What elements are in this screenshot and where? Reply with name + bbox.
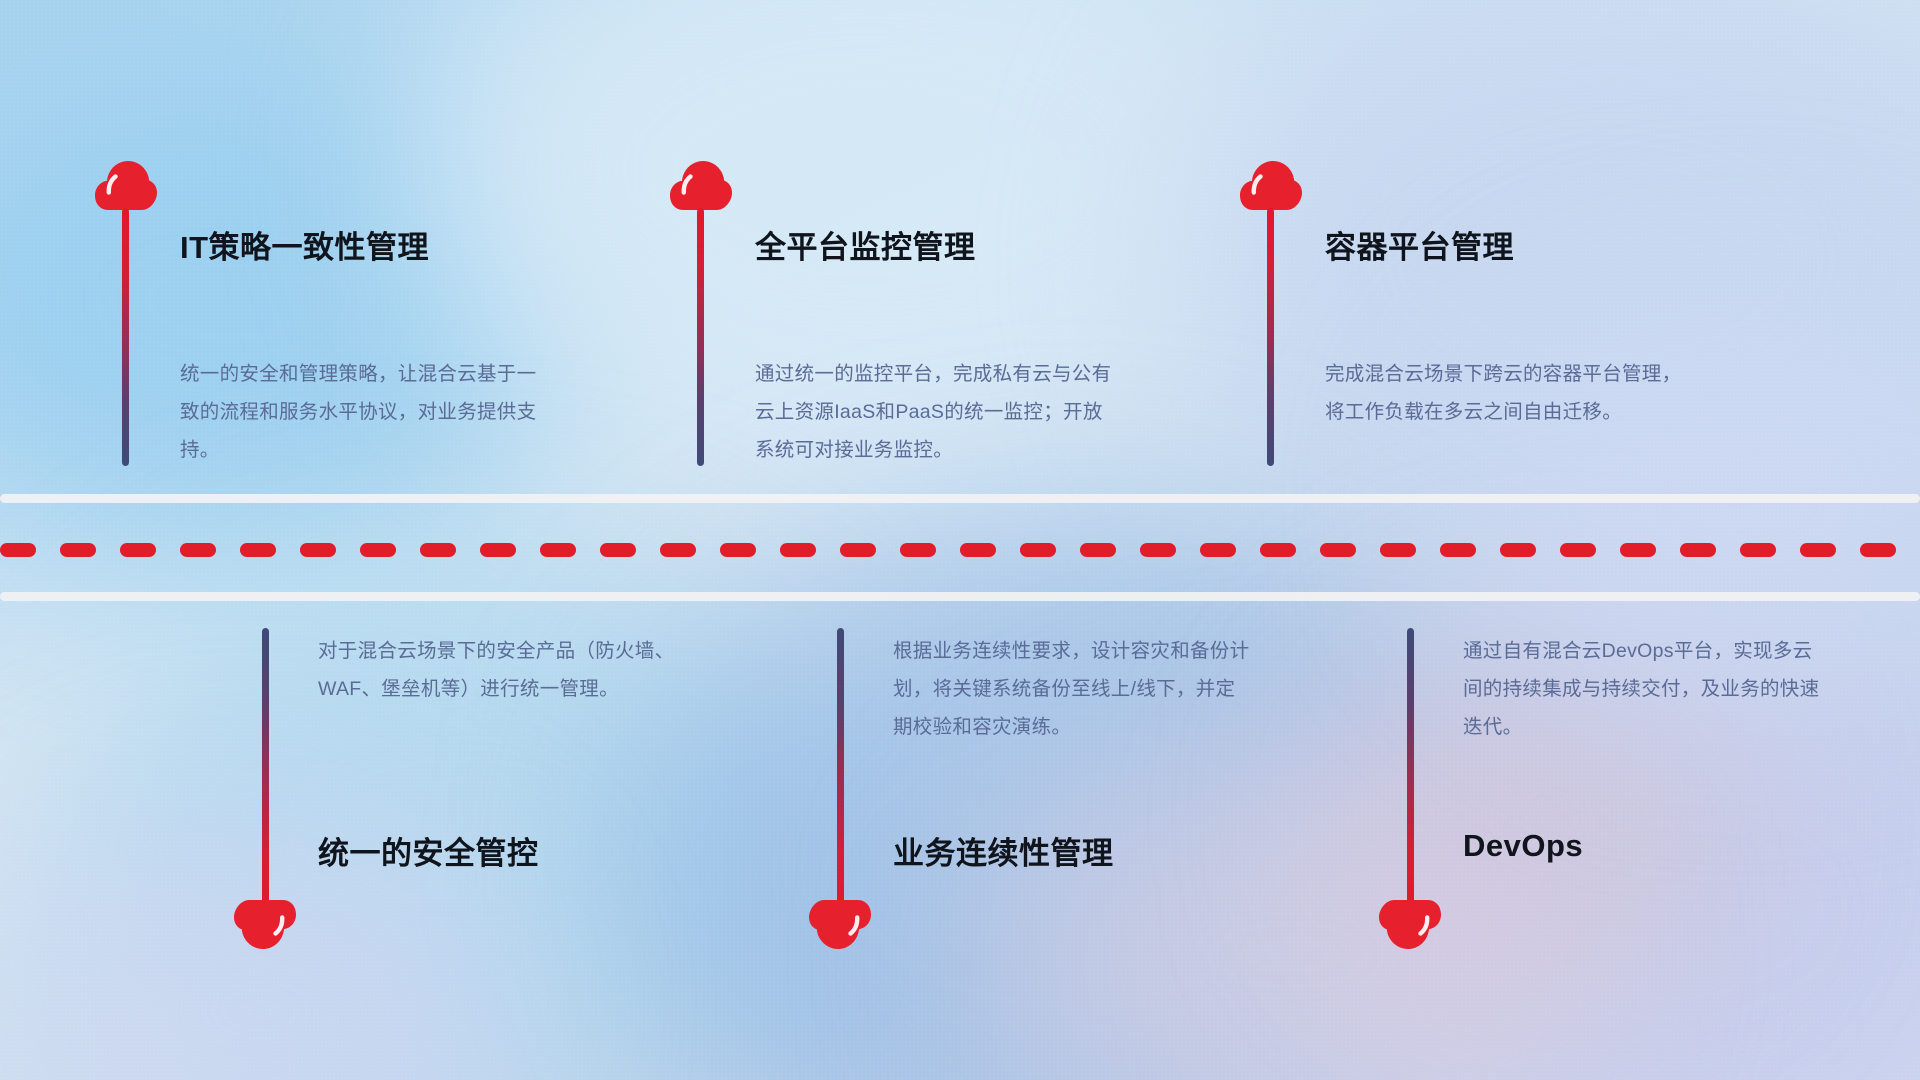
divider-dash-segment xyxy=(1380,543,1416,557)
divider-dash-segment xyxy=(1320,543,1356,557)
cloud-icon xyxy=(234,898,296,950)
divider-dash-segment xyxy=(1440,543,1476,557)
divider-dash-segment xyxy=(1680,543,1716,557)
divider-dash-segment xyxy=(1800,543,1836,557)
divider-dash-segment xyxy=(900,543,936,557)
card-title: 业务连续性管理 xyxy=(893,828,1114,873)
card-description: 完成混合云场景下跨云的容器平台管理，将工作负载在多云之间自由迁移。 xyxy=(1325,355,1685,431)
divider-dash-segment xyxy=(120,543,156,557)
divider-dash-segment xyxy=(540,543,576,557)
infographic-canvas: IT策略一致性管理 统一的安全和管理策略，让混合云基于一致的流程和服务水平协议，… xyxy=(0,0,1920,1080)
divider-dash-segment xyxy=(1740,543,1776,557)
timeline-stem xyxy=(1407,628,1414,920)
divider-dash-segment xyxy=(360,543,396,557)
timeline-stem xyxy=(697,208,704,466)
timeline-stem xyxy=(1267,208,1274,466)
divider-dash-segment xyxy=(1560,543,1596,557)
divider-dash-segment xyxy=(1860,543,1896,557)
timeline-stem xyxy=(122,208,129,466)
divider-dash-segment xyxy=(480,543,516,557)
divider-line-bottom xyxy=(0,592,1920,601)
card-description: 通过自有混合云DevOps平台，实现多云间的持续集成与持续交付，及业务的快速迭代… xyxy=(1463,632,1823,746)
divider-dash-segment xyxy=(780,543,816,557)
cloud-icon xyxy=(670,160,732,212)
cloud-icon xyxy=(809,898,871,950)
card-title: 统一的安全管控 xyxy=(318,828,539,873)
divider-dash-segment xyxy=(1020,543,1056,557)
divider-dash-segment xyxy=(1140,543,1176,557)
divider-dash-segment xyxy=(1200,543,1236,557)
divider-dash-segment xyxy=(1260,543,1296,557)
cloud-icon xyxy=(1240,160,1302,212)
divider-dash-segment xyxy=(1500,543,1536,557)
divider-dashed-line xyxy=(0,543,1920,557)
card-description: 根据业务连续性要求，设计容灾和备份计划，将关键系统备份至线上/线下，并定期校验和… xyxy=(893,632,1253,746)
divider-dash-segment xyxy=(720,543,756,557)
timeline-stem xyxy=(837,628,844,920)
card-title: IT策略一致性管理 xyxy=(180,222,429,267)
card-title: 全平台监控管理 xyxy=(755,222,976,267)
divider-dash-segment xyxy=(660,543,696,557)
card-description: 统一的安全和管理策略，让混合云基于一致的流程和服务水平协议，对业务提供支持。 xyxy=(180,355,540,469)
divider-dash-segment xyxy=(180,543,216,557)
divider-dash-segment xyxy=(240,543,276,557)
divider-dash-segment xyxy=(1080,543,1116,557)
divider-line-top xyxy=(0,494,1920,503)
card-description: 通过统一的监控平台，完成私有云与公有云上资源IaaS和PaaS的统一监控；开放系… xyxy=(755,355,1115,469)
card-description: 对于混合云场景下的安全产品（防火墙、WAF、堡垒机等）进行统一管理。 xyxy=(318,632,678,708)
cloud-icon xyxy=(1379,898,1441,950)
divider-dash-segment xyxy=(0,543,36,557)
divider-dash-segment xyxy=(300,543,336,557)
divider-dash-segment xyxy=(960,543,996,557)
card-title: DevOps xyxy=(1463,828,1583,864)
card-title: 容器平台管理 xyxy=(1325,222,1514,267)
divider-dash-segment xyxy=(1620,543,1656,557)
divider-dash-segment xyxy=(420,543,456,557)
divider-dash-segment xyxy=(60,543,96,557)
divider-dash-segment xyxy=(600,543,636,557)
cloud-icon xyxy=(95,160,157,212)
timeline-stem xyxy=(262,628,269,920)
divider-dash-segment xyxy=(840,543,876,557)
